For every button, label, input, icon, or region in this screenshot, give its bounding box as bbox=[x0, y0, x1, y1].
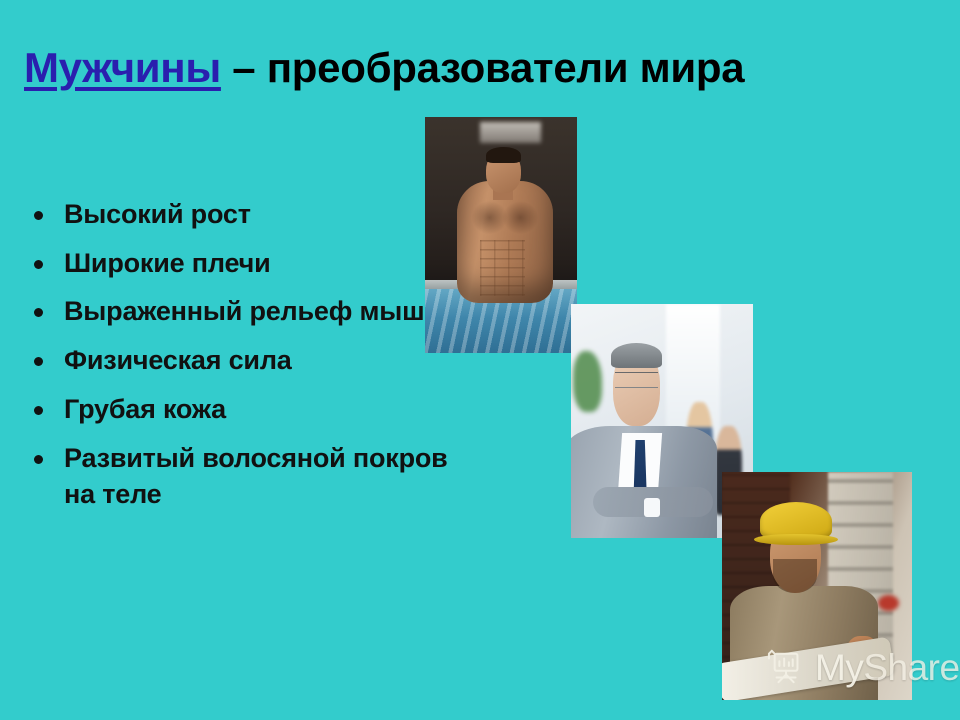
businessman-cuff bbox=[644, 498, 660, 517]
list-item: Высокий рост bbox=[22, 196, 452, 233]
worker-red-object bbox=[878, 595, 899, 611]
list-item: Широкие плечи bbox=[22, 245, 452, 282]
list-item: Физическая сила bbox=[22, 342, 452, 379]
page-title: Мужчины – преобразователи мира bbox=[24, 44, 954, 91]
list-item: Развитый волосяной покров на теле bbox=[22, 440, 452, 513]
photo-worker bbox=[722, 472, 912, 700]
bullet-list: Высокий рост Широкие плечи Выраженный ре… bbox=[22, 196, 452, 525]
title-rest: преобразователи мира bbox=[267, 44, 745, 91]
swimmer-light-strip bbox=[480, 122, 541, 143]
list-item: Выраженный рельеф мышц bbox=[22, 293, 452, 330]
worker-beard bbox=[773, 559, 817, 593]
swimmer-abs bbox=[480, 240, 526, 297]
businessman-plant bbox=[573, 351, 602, 412]
title-dash: – bbox=[221, 44, 267, 91]
worker-hard-hat-brim bbox=[754, 534, 838, 545]
photo-swimmer bbox=[425, 117, 577, 353]
title-hyperlink[interactable]: Мужчины bbox=[24, 44, 221, 91]
list-item: Грубая кожа bbox=[22, 391, 452, 428]
businessman-hair bbox=[611, 343, 662, 369]
businessman-glasses bbox=[615, 372, 659, 388]
swimmer-hair bbox=[486, 147, 521, 164]
slide: Мужчины – преобразователи мира Высокий р… bbox=[0, 0, 960, 720]
